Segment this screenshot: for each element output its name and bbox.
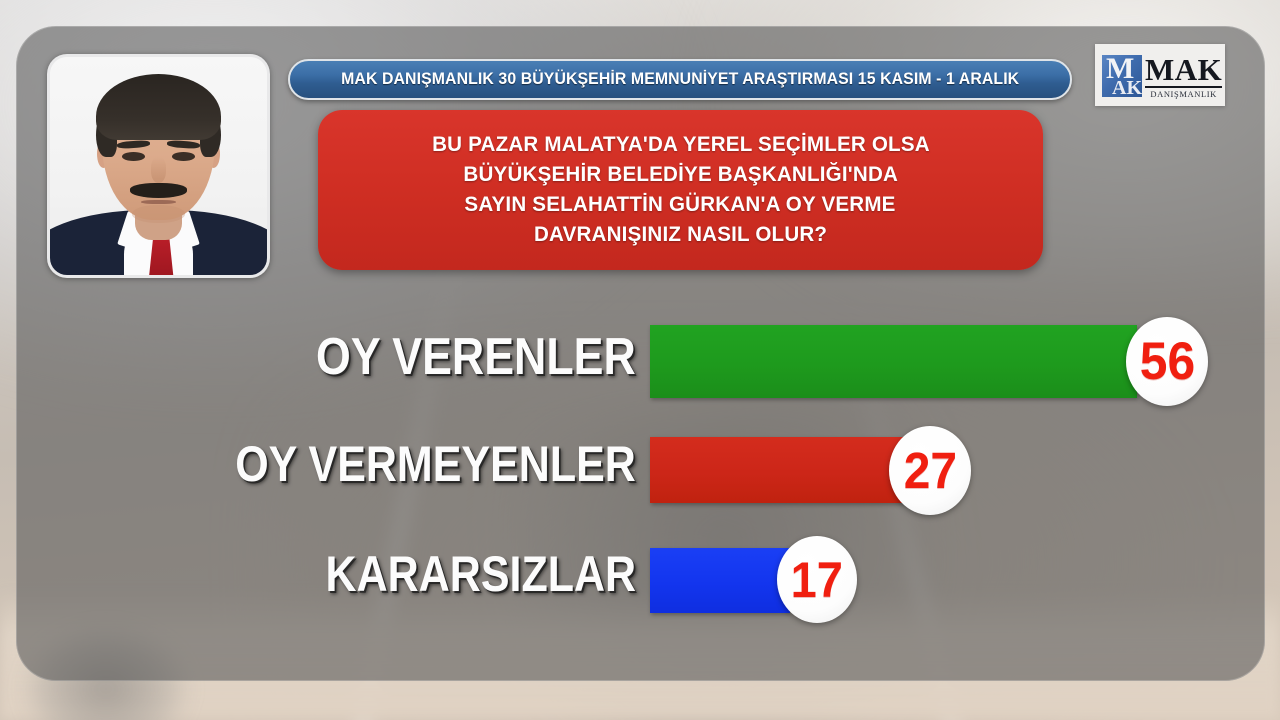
chart-value-text: 17 xyxy=(791,555,843,605)
chart-row-label: OY VERMEYENLER xyxy=(235,439,636,489)
chart-bar-blue xyxy=(650,548,790,613)
poll-graphic-stage: MAK DANIŞMANLIK 30 BÜYÜKŞEHİR MEMNUNİYET… xyxy=(0,0,1280,720)
poll-results-chart: OY VERENLER 56 OY VERMEYENLER 27 KARARSI… xyxy=(0,0,1280,720)
chart-value-badge: 17 xyxy=(777,536,857,623)
chart-row-label: KARARSIZLAR xyxy=(325,549,636,599)
chart-row-oy-verenler: OY VERENLER 56 xyxy=(0,325,1280,398)
chart-value-badge: 27 xyxy=(889,426,971,515)
chart-row-oy-vermeyenler: OY VERMEYENLER 27 xyxy=(0,437,1280,503)
chart-row-label: OY VERENLER xyxy=(316,331,636,383)
chart-value-text: 27 xyxy=(903,445,956,496)
chart-value-text: 56 xyxy=(1139,335,1194,388)
chart-value-badge: 56 xyxy=(1126,317,1208,406)
chart-bar-green xyxy=(650,325,1137,398)
chart-bar-red xyxy=(650,437,915,503)
chart-row-kararsizlar: KARARSIZLAR 17 xyxy=(0,548,1280,613)
